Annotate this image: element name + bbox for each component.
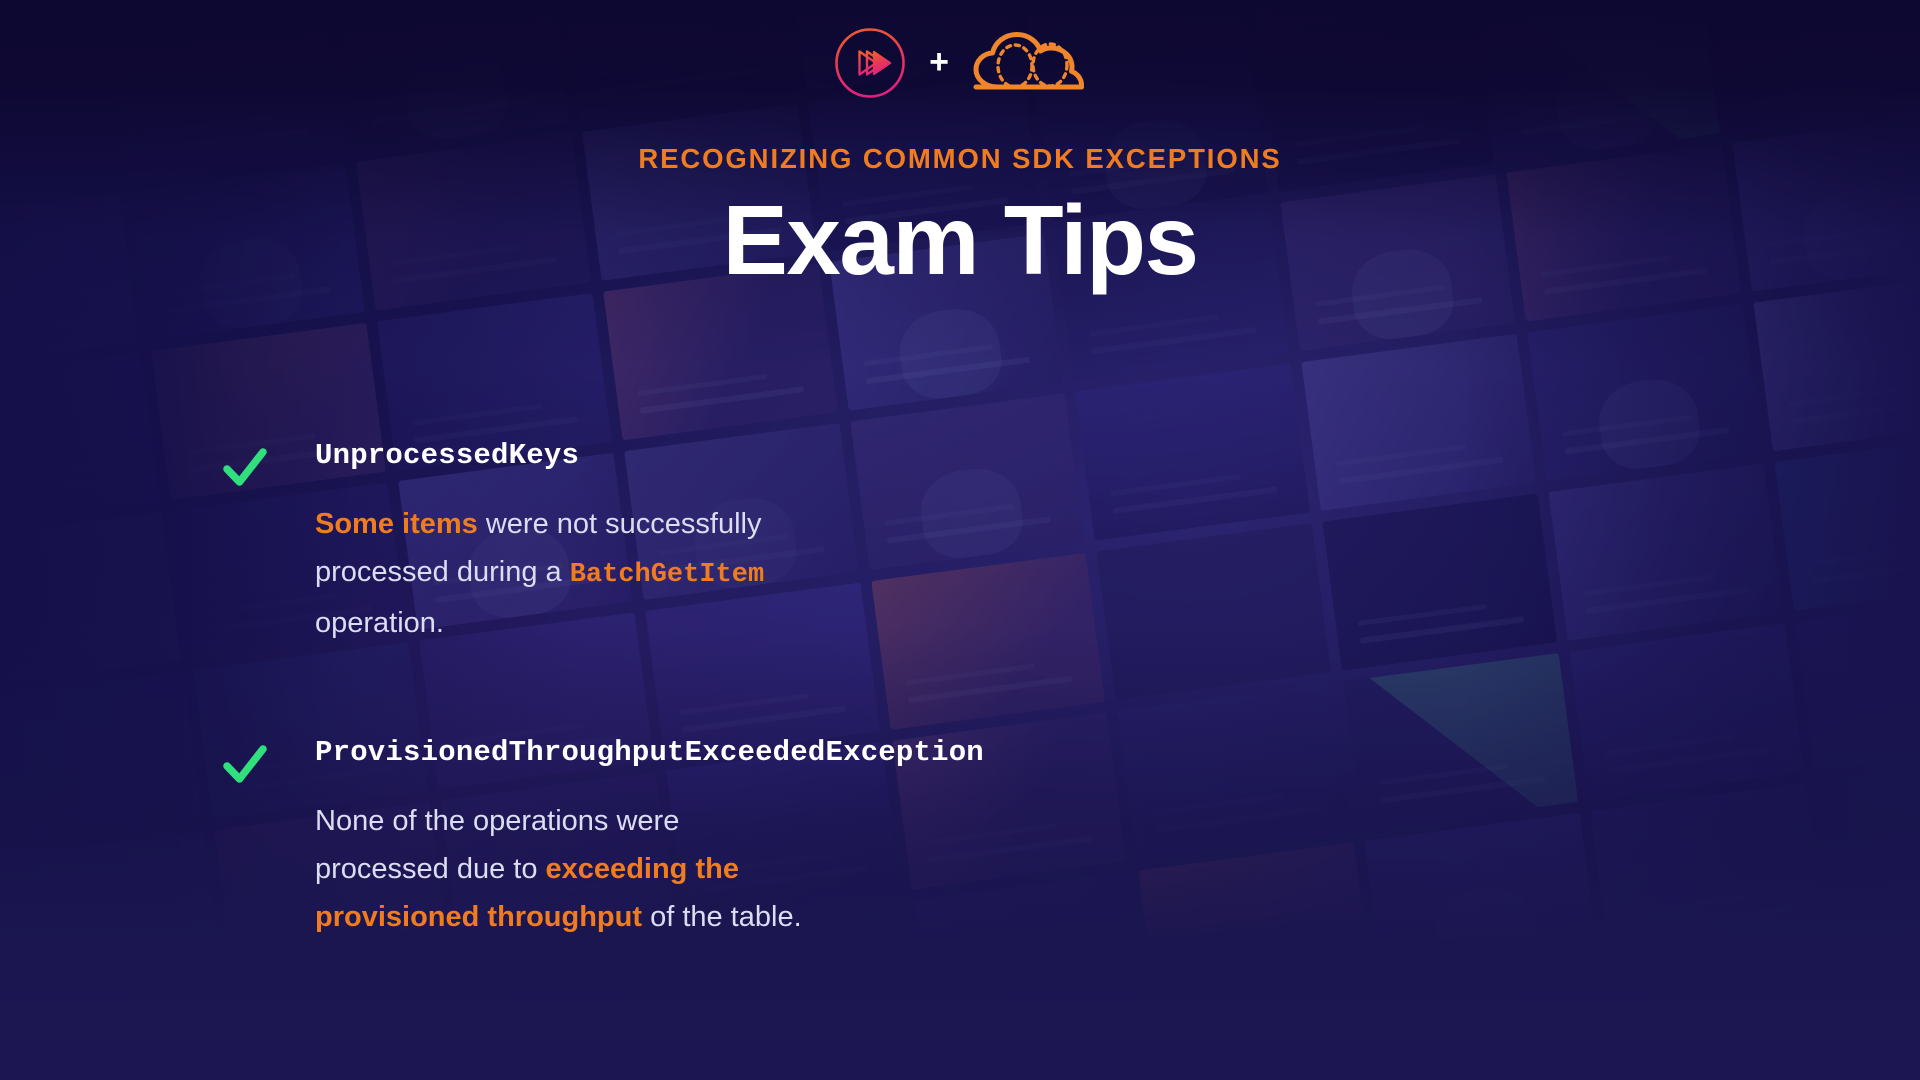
green-checkmark-icon bbox=[222, 741, 268, 787]
bullet-heading: ProvisionedThroughputExceededException bbox=[315, 737, 1122, 769]
green-checkmark-icon bbox=[222, 741, 268, 787]
plus-icon: + bbox=[929, 45, 949, 79]
bullet-text-segment: operation. bbox=[315, 607, 444, 639]
slide-eyebrow: RECOGNIZING COMMON SDK EXCEPTIONS bbox=[0, 143, 1920, 175]
bullet-description: None of the operations were processed du… bbox=[315, 797, 815, 941]
bullet-text-segment: BatchGetItem bbox=[570, 560, 764, 590]
green-checkmark-icon bbox=[222, 444, 268, 490]
bullet-item: UnprocessedKeysSome items were not succe… bbox=[222, 440, 1122, 647]
bullet-body: UnprocessedKeysSome items were not succe… bbox=[315, 440, 1122, 647]
bullet-heading: UnprocessedKeys bbox=[315, 440, 1122, 472]
bullet-item: ProvisionedThroughputExceededExceptionNo… bbox=[222, 737, 1122, 941]
bullet-list: UnprocessedKeysSome items were not succe… bbox=[222, 440, 1122, 941]
brand-logo-row: + bbox=[0, 22, 1920, 104]
bullet-text-segment: Some items bbox=[315, 508, 478, 540]
acloudguru-play-logo-icon bbox=[833, 26, 907, 100]
slide-root: + RECOGNIZING COMMON SDK EXCEPTIONS Exam… bbox=[0, 0, 1920, 1080]
bullet-description: Some items were not successfully process… bbox=[315, 500, 815, 647]
page-title: Exam Tips bbox=[0, 186, 1920, 296]
cloud-logo-icon bbox=[971, 30, 1087, 96]
bullet-text-segment: of the table. bbox=[642, 901, 802, 933]
bullet-body: ProvisionedThroughputExceededExceptionNo… bbox=[315, 737, 1122, 941]
green-checkmark-icon bbox=[222, 444, 268, 490]
